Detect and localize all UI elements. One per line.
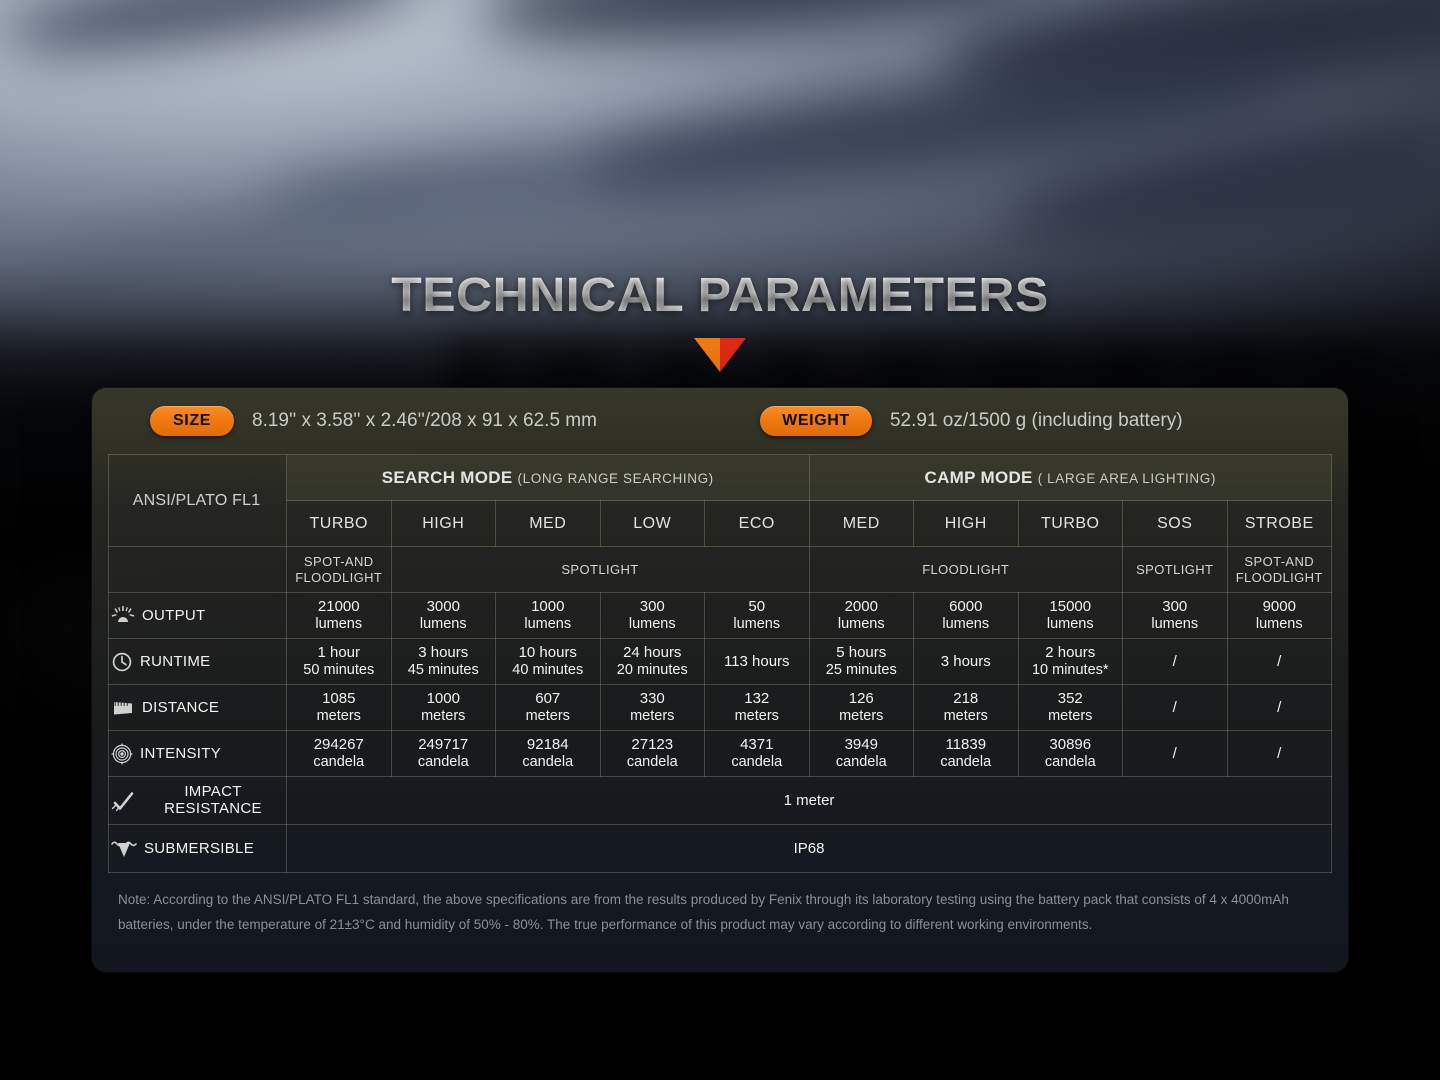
cell-distance-8: / <box>1123 685 1228 731</box>
mode-group-camp-sub: ( LARGE AREA LIGHTING) <box>1038 471 1216 486</box>
cell-runtime-4: 113 hours <box>705 639 810 685</box>
cell-intensity-9: / <box>1227 731 1332 777</box>
cell-output-8: 300lumens <box>1123 593 1228 639</box>
mode-cell-sos: SOS <box>1123 501 1228 547</box>
mode-group-camp: CAMP MODE ( LARGE AREA LIGHTING) <box>809 455 1332 501</box>
cell-runtime-7: 2 hours10 minutes* <box>1018 639 1123 685</box>
size-value: 8.19'' x 3.58'' x 2.46''/208 x 91 x 62.5… <box>252 410 597 432</box>
mode-cell-low-search: LOW <box>600 501 705 547</box>
beam-type-row: SPOT-AND FLOODLIGHT SPOTLIGHT FLOODLIGHT… <box>109 547 1332 593</box>
cell-submersible-value: IP68 <box>287 825 1332 873</box>
cell-impact-resistance-value: 1 meter <box>287 777 1332 825</box>
mode-group-search-name: SEARCH MODE <box>382 468 513 487</box>
table-row-submersible: SUBMERSIBLE IP68 <box>109 825 1332 873</box>
table-row-runtime: RUNTIME 1 hour50 minutes 3 hours45 minut… <box>109 639 1332 685</box>
cell-runtime-9: / <box>1227 639 1332 685</box>
footnote: Note: According to the ANSI/PLATO FL1 st… <box>118 888 1328 938</box>
weight-badge: WEIGHT <box>760 406 872 436</box>
cell-distance-2: 607meters <box>496 685 601 731</box>
mode-cell-turbo-search: TURBO <box>287 501 392 547</box>
clock-icon <box>111 651 133 673</box>
cell-output-1: 3000lumens <box>391 593 496 639</box>
ansi-plato-label: ANSI/PLATO FL1 <box>109 455 287 547</box>
cell-output-7: 15000lumens <box>1018 593 1123 639</box>
table-row-distance: DISTANCE 1085meters 1000meters 607meters… <box>109 685 1332 731</box>
cell-output-9: 9000lumens <box>1227 593 1332 639</box>
chevron-down-icon <box>692 336 748 374</box>
cell-intensity-2: 92184candela <box>496 731 601 777</box>
cell-output-0: 21000lumens <box>287 593 392 639</box>
beam-type-spotlight-sos: SPOTLIGHT <box>1123 547 1228 593</box>
row-label-output: OUTPUT <box>109 593 287 639</box>
light-beam-icon <box>111 606 135 626</box>
spec-panel: SIZE 8.19'' x 3.58'' x 2.46''/208 x 91 x… <box>92 388 1348 972</box>
cell-intensity-5: 3949candela <box>809 731 914 777</box>
cell-output-3: 300lumens <box>600 593 705 639</box>
mode-group-row: ANSI/PLATO FL1 SEARCH MODE (LONG RANGE S… <box>109 455 1332 501</box>
beam-type-spotlight-search: SPOTLIGHT <box>391 547 809 593</box>
mode-cell-high-camp: HIGH <box>914 501 1019 547</box>
mode-group-camp-name: CAMP MODE <box>925 468 1033 487</box>
impact-resistance-icon <box>111 790 135 812</box>
mode-cell-strobe: STROBE <box>1227 501 1332 547</box>
page-title: TECHNICAL PARAMETERS <box>0 268 1440 323</box>
table-row-output: OUTPUT 21000lumens 3000lumens 1000lumens… <box>109 593 1332 639</box>
table-row-intensity: INTENSITY 294267candela 249717candela 92… <box>109 731 1332 777</box>
meta-strip: SIZE 8.19'' x 3.58'' x 2.46''/208 x 91 x… <box>92 388 1348 454</box>
mode-cell-high-search: HIGH <box>391 501 496 547</box>
cell-intensity-0: 294267candela <box>287 731 392 777</box>
cell-distance-5: 126meters <box>809 685 914 731</box>
beam-type-floodlight-camp: FLOODLIGHT <box>809 547 1123 593</box>
cell-runtime-6: 3 hours <box>914 639 1019 685</box>
cell-runtime-1: 3 hours45 minutes <box>391 639 496 685</box>
cell-output-5: 2000lumens <box>809 593 914 639</box>
cell-distance-0: 1085meters <box>287 685 392 731</box>
mode-cell-med-camp: MED <box>809 501 914 547</box>
chevron-container <box>0 336 1440 374</box>
cell-output-4: 50lumens <box>705 593 810 639</box>
target-intensity-icon <box>111 743 133 765</box>
cell-distance-6: 218meters <box>914 685 1019 731</box>
mode-cell-eco-search: ECO <box>705 501 810 547</box>
row-label-impact-resistance-text: IMPACT RESISTANCE <box>142 784 284 817</box>
cell-runtime-2: 10 hours40 minutes <box>496 639 601 685</box>
cell-intensity-8: / <box>1123 731 1228 777</box>
cell-output-2: 1000lumens <box>496 593 601 639</box>
beam-distance-icon <box>111 698 135 718</box>
row-label-output-text: OUTPUT <box>142 607 205 624</box>
cell-runtime-0: 1 hour50 minutes <box>287 639 392 685</box>
cell-runtime-3: 24 hours20 minutes <box>600 639 705 685</box>
cell-distance-3: 330meters <box>600 685 705 731</box>
row-label-intensity: INTENSITY <box>109 731 287 777</box>
beam-type-spot-and-floodlight-strobe: SPOT-AND FLOODLIGHT <box>1227 547 1332 593</box>
cell-intensity-6: 11839candela <box>914 731 1019 777</box>
mode-group-search-sub: (LONG RANGE SEARCHING) <box>518 471 714 486</box>
row-label-submersible-text: SUBMERSIBLE <box>144 840 254 857</box>
table-row-impact-resistance: IMPACT RESISTANCE 1 meter <box>109 777 1332 825</box>
mode-cell-med-search: MED <box>496 501 601 547</box>
row-label-runtime-text: RUNTIME <box>140 653 210 670</box>
beam-type-spacer <box>109 547 287 593</box>
row-label-intensity-text: INTENSITY <box>140 745 221 762</box>
row-label-distance: DISTANCE <box>109 685 287 731</box>
row-label-submersible: SUBMERSIBLE <box>109 825 287 873</box>
specifications-table: ANSI/PLATO FL1 SEARCH MODE (LONG RANGE S… <box>108 454 1332 873</box>
row-label-runtime: RUNTIME <box>109 639 287 685</box>
cell-output-6: 6000lumens <box>914 593 1019 639</box>
water-drop-icon <box>111 839 137 859</box>
size-badge: SIZE <box>150 406 234 436</box>
cell-distance-1: 1000meters <box>391 685 496 731</box>
row-label-impact-resistance: IMPACT RESISTANCE <box>109 777 287 825</box>
cell-intensity-7: 30896candela <box>1018 731 1123 777</box>
row-label-distance-text: DISTANCE <box>142 699 219 716</box>
technical-parameters-page: TECHNICAL PARAMETERS SIZE 8.19'' x 3.58'… <box>0 0 1440 1080</box>
cell-runtime-5: 5 hours25 minutes <box>809 639 914 685</box>
size-meta: SIZE 8.19'' x 3.58'' x 2.46''/208 x 91 x… <box>150 406 597 436</box>
cell-intensity-4: 4371candela <box>705 731 810 777</box>
cell-intensity-3: 27123candela <box>600 731 705 777</box>
mode-group-search: SEARCH MODE (LONG RANGE SEARCHING) <box>287 455 810 501</box>
mode-cell-turbo-camp: TURBO <box>1018 501 1123 547</box>
weight-meta: WEIGHT 52.91 oz/1500 g (including batter… <box>760 406 1183 436</box>
mode-name-row: TURBO HIGH MED LOW ECO MED HIGH TURBO SO… <box>109 501 1332 547</box>
cell-distance-7: 352meters <box>1018 685 1123 731</box>
cell-distance-4: 132meters <box>705 685 810 731</box>
weight-value: 52.91 oz/1500 g (including battery) <box>890 410 1183 432</box>
cell-distance-9: / <box>1227 685 1332 731</box>
cell-intensity-1: 249717candela <box>391 731 496 777</box>
beam-type-spot-and-floodlight-search: SPOT-AND FLOODLIGHT <box>287 547 392 593</box>
cell-runtime-8: / <box>1123 639 1228 685</box>
